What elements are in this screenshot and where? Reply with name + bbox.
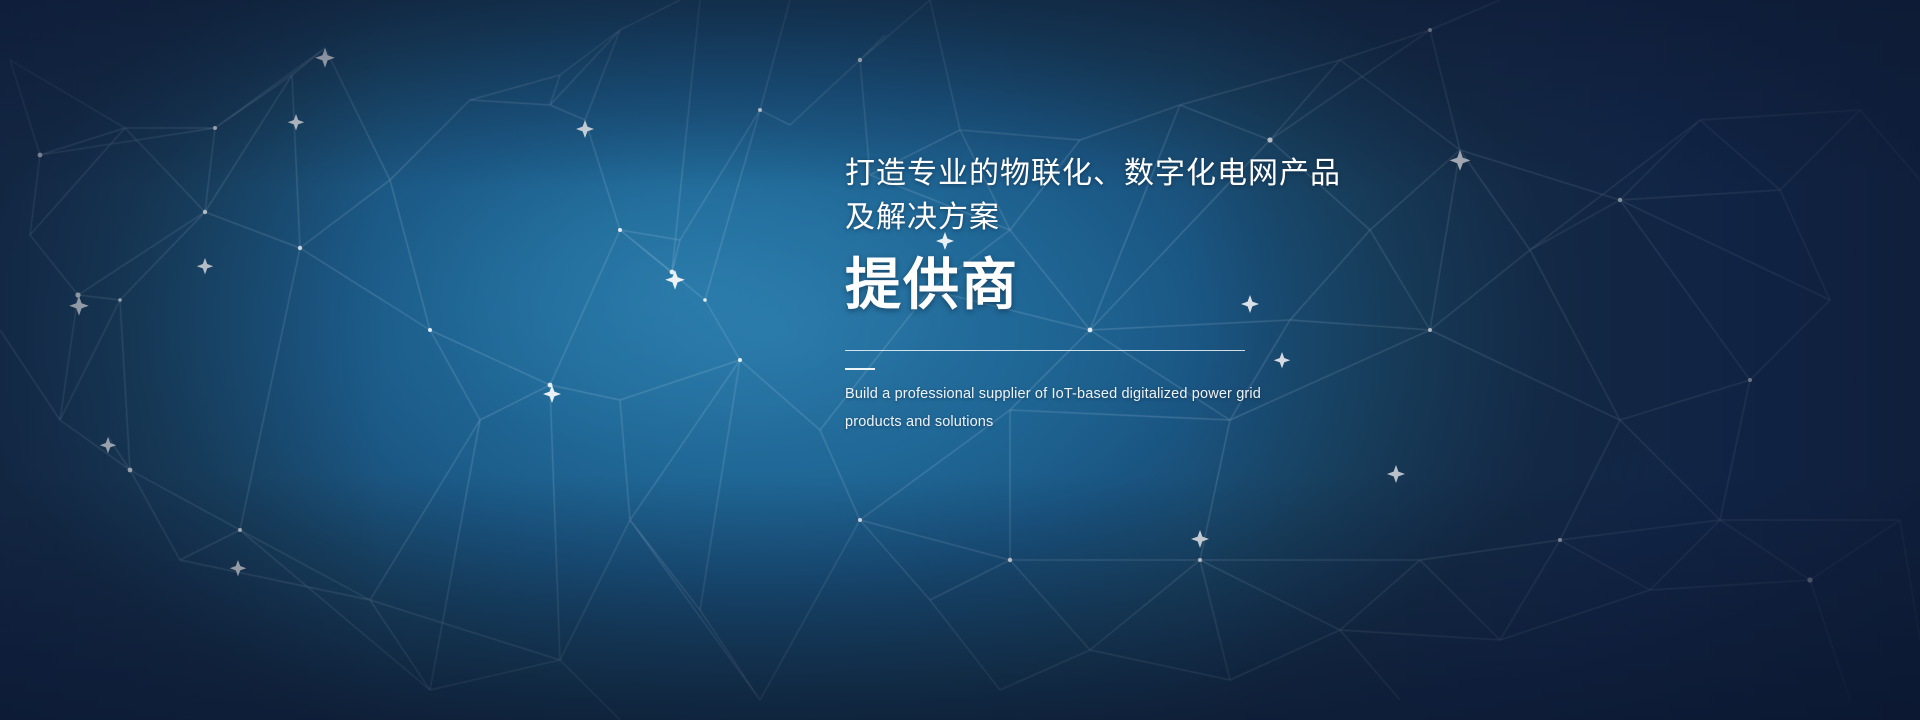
- subtitle-line-2: products and solutions: [845, 408, 1545, 436]
- hero-headline: 打造专业的物联化、数字化电网产品 及解决方案: [845, 152, 1545, 240]
- divider-rule-short: [845, 368, 875, 370]
- hero-banner: 打造专业的物联化、数字化电网产品 及解决方案 提供商 Build a profe…: [0, 0, 1920, 720]
- hero-subtitle: Build a professional supplier of IoT-bas…: [845, 380, 1545, 436]
- hero-emphasis-word: 提供商: [845, 254, 1545, 316]
- divider-rule-long: [845, 350, 1245, 351]
- hero-content: 打造专业的物联化、数字化电网产品 及解决方案 提供商 Build a profe…: [845, 152, 1545, 436]
- headline-line-1: 打造专业的物联化、数字化电网产品: [845, 152, 1545, 196]
- subtitle-line-1: Build a professional supplier of IoT-bas…: [845, 380, 1545, 408]
- headline-line-2: 及解决方案: [845, 196, 1545, 240]
